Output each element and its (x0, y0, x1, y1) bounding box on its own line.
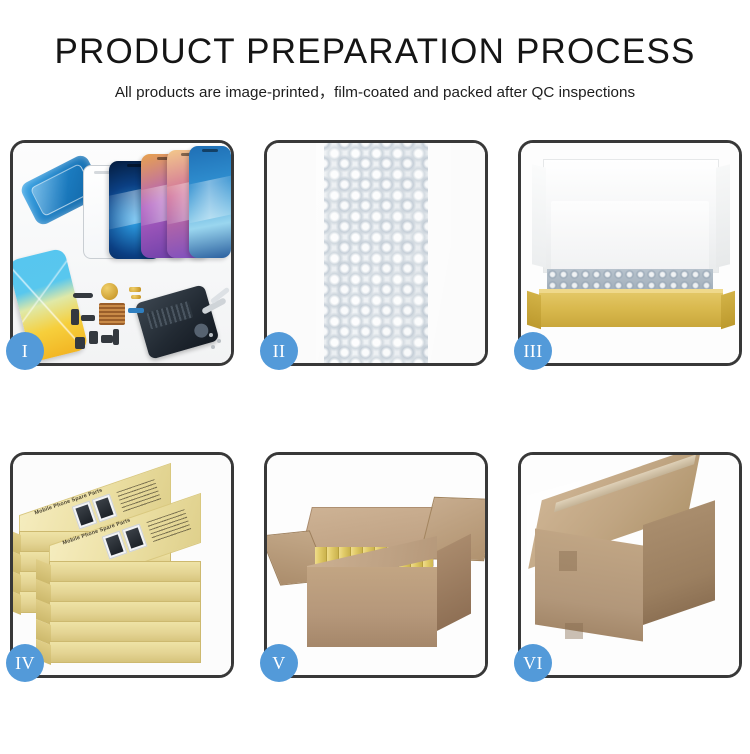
carton-side-face (437, 534, 471, 631)
kraft-tray (539, 293, 723, 327)
page-title: PRODUCT PREPARATION PROCESS (0, 34, 750, 71)
step-panel-2: II (264, 140, 488, 366)
sealed-carton-scene (521, 455, 739, 675)
process-row-bottom: Mobile Phone Spare Parts Mobile Phone Sp… (0, 444, 750, 754)
spare-part-sim-tray (75, 337, 85, 349)
spare-part-screw (209, 333, 213, 337)
bubble-wrap-scene (267, 143, 485, 363)
spare-part-connector (73, 293, 93, 298)
spare-part-flex-cable (71, 309, 79, 325)
process-steps-grid: I II (0, 134, 750, 754)
spare-part-speaker-coil (101, 283, 118, 300)
step-3-image (521, 143, 739, 363)
bubble-wrap-sleeve (324, 143, 428, 363)
step-panel-4: Mobile Phone Spare Parts Mobile Phone Sp… (10, 452, 234, 678)
carton-hand-hole-top (559, 551, 577, 571)
carton-hand-hole-bottom (565, 623, 583, 639)
inner-box-scene (521, 143, 739, 363)
stacked-boxes-scene: Mobile Phone Spare Parts Mobile Phone Sp… (13, 455, 231, 675)
step-panel-3: III (518, 140, 742, 366)
spare-part-vibrator (113, 329, 119, 345)
step-panel-5: V (264, 452, 488, 678)
products-scene (13, 143, 231, 363)
notch (202, 149, 218, 152)
step-badge-3: III (514, 332, 552, 370)
retail-box-front-3 (49, 601, 201, 623)
process-row-top: I II (0, 134, 750, 444)
step-2-image (267, 143, 485, 363)
page-header: PRODUCT PREPARATION PROCESS All products… (0, 0, 750, 102)
spare-part-flex-gold-2 (131, 295, 141, 299)
carton-front-face (307, 567, 437, 647)
spare-part-button (89, 331, 98, 344)
step-5-image (267, 455, 485, 675)
step-badge-1: I (6, 332, 44, 370)
spare-part-copper-mesh (99, 303, 125, 325)
spare-part-screw-3 (211, 345, 215, 349)
spare-part-bracket (101, 335, 113, 343)
step-badge-2: II (260, 332, 298, 370)
page-subtitle: All products are image-printed，film-coat… (0, 80, 750, 102)
phone-screen-teal (189, 146, 231, 258)
phone-back-housing (134, 284, 219, 360)
step-badge-4: IV (6, 644, 44, 682)
retail-box-front-2 (49, 581, 201, 603)
step-6-image (521, 455, 739, 675)
step-badge-6: VI (514, 644, 552, 682)
spare-part-flex-gold (129, 287, 141, 292)
spare-part-flex-cable-2 (81, 315, 95, 321)
spare-part-screw-2 (217, 339, 221, 343)
sealed-carton-front (535, 528, 643, 641)
screen-glare (189, 174, 231, 223)
step-4-image: Mobile Phone Spare Parts Mobile Phone Sp… (13, 455, 231, 675)
step-panel-1: I (10, 140, 234, 366)
retail-box-front-1 (49, 561, 201, 583)
spare-part-camera-flex (128, 308, 144, 313)
step-panel-6: VI (518, 452, 742, 678)
plastic-sheen (316, 143, 451, 363)
open-carton-scene (267, 455, 485, 675)
foam-sheet (551, 201, 709, 271)
step-badge-5: V (260, 644, 298, 682)
step-1-image (13, 143, 231, 363)
retail-box-front-4 (49, 621, 201, 643)
retail-box-front-5 (49, 641, 201, 663)
